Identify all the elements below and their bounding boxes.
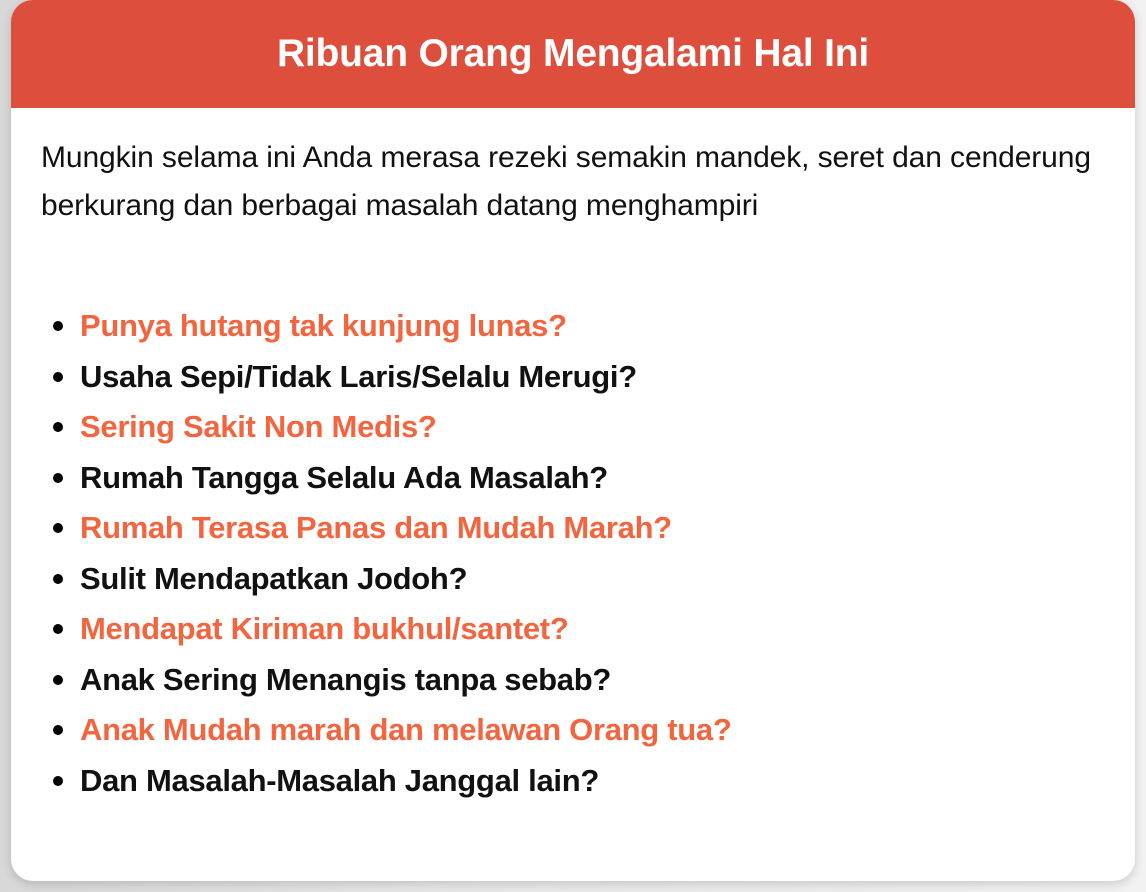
intro-paragraph: Mungkin selama ini Anda merasa rezeki se… <box>41 134 1101 230</box>
bullet-point-icon <box>53 422 63 432</box>
bullet-point-icon <box>53 624 63 634</box>
list-item: Usaha Sepi/Tidak Laris/Selalu Merugi? <box>41 352 1101 403</box>
list-item-label: Usaha Sepi/Tidak Laris/Selalu Merugi? <box>80 359 637 394</box>
list-item: Rumah Tangga Selalu Ada Masalah? <box>41 453 1101 504</box>
list-item: Mendapat Kiriman bukhul/santet? <box>41 604 1101 655</box>
page-background: Ribuan Orang Mengalami Hal Ini Mungkin s… <box>0 0 1146 892</box>
list-item: Anak Sering Menangis tanpa sebab? <box>41 655 1101 706</box>
list-item-label: Rumah Terasa Panas dan Mudah Marah? <box>80 510 672 545</box>
bullet-point-icon <box>53 776 63 786</box>
bullet-point-icon <box>53 372 63 382</box>
bullet-point-icon <box>53 675 63 685</box>
list-item: Dan Masalah-Masalah Janggal lain? <box>41 756 1101 807</box>
list-item: Anak Mudah marah dan melawan Orang tua? <box>41 705 1101 756</box>
bullet-point-icon <box>53 473 63 483</box>
list-item-label: Dan Masalah-Masalah Janggal lain? <box>80 763 599 798</box>
bullet-point-icon <box>53 574 63 584</box>
card-title: Ribuan Orang Mengalami Hal Ini <box>277 33 869 76</box>
list-item: Rumah Terasa Panas dan Mudah Marah? <box>41 503 1101 554</box>
list-item-label: Punya hutang tak kunjung lunas? <box>80 308 567 343</box>
info-card: Ribuan Orang Mengalami Hal Ini Mungkin s… <box>11 0 1135 881</box>
problem-list: Punya hutang tak kunjung lunas?Usaha Sep… <box>41 301 1101 806</box>
list-item-label: Anak Sering Menangis tanpa sebab? <box>80 662 611 697</box>
bullet-point-icon <box>53 321 63 331</box>
list-item: Sering Sakit Non Medis? <box>41 402 1101 453</box>
list-item: Sulit Mendapatkan Jodoh? <box>41 554 1101 605</box>
list-item-label: Mendapat Kiriman bukhul/santet? <box>80 611 568 646</box>
list-item-label: Rumah Tangga Selalu Ada Masalah? <box>80 460 608 495</box>
bullet-point-icon <box>53 725 63 735</box>
bullet-point-icon <box>53 523 63 533</box>
list-item-label: Sering Sakit Non Medis? <box>80 409 437 444</box>
list-item: Punya hutang tak kunjung lunas? <box>41 301 1101 352</box>
card-body: Mungkin selama ini Anda merasa rezeki se… <box>11 108 1135 806</box>
list-item-label: Sulit Mendapatkan Jodoh? <box>80 561 467 596</box>
list-item-label: Anak Mudah marah dan melawan Orang tua? <box>80 712 732 747</box>
card-header: Ribuan Orang Mengalami Hal Ini <box>11 0 1135 108</box>
